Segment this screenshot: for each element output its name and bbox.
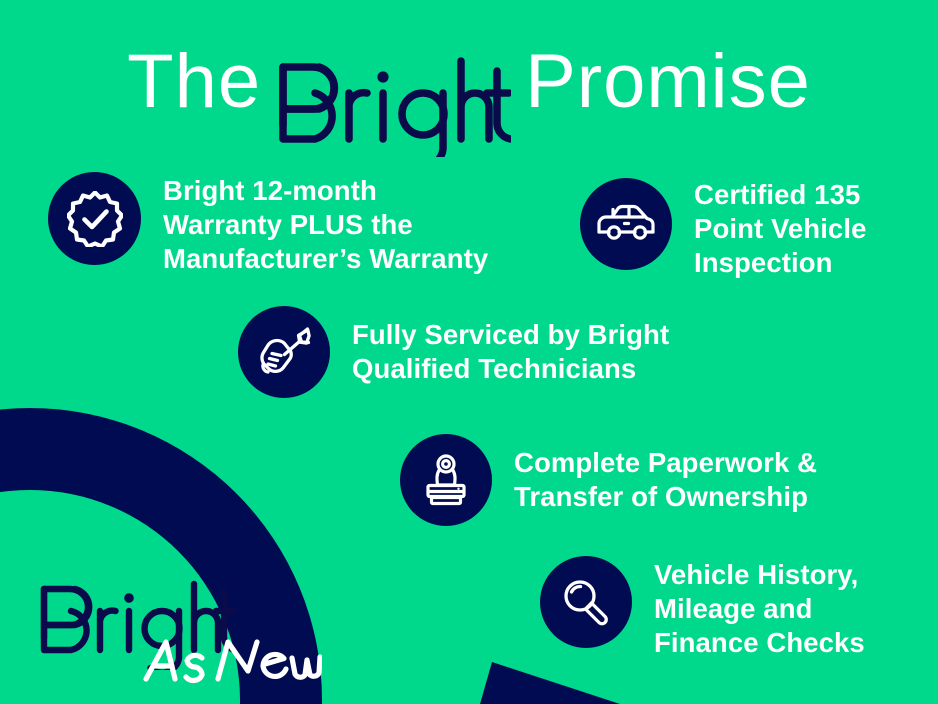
page-title: The — [0, 44, 938, 157]
headline-suffix: Promise — [525, 44, 811, 120]
promise-label-warranty: Bright 12-month Warranty PLUS the Manufa… — [163, 172, 488, 275]
promise-label-serviced: Fully Serviced by Bright Qualified Techn… — [352, 306, 669, 386]
promise-item-inspection: Certified 135 Point Vehicle Inspection — [580, 178, 866, 279]
promise-item-paperwork: Complete Paperwork & Transfer of Ownersh… — [400, 434, 817, 526]
promise-item-history: Vehicle History, Mileage and Finance Che… — [540, 556, 865, 659]
promise-item-serviced: Fully Serviced by Bright Qualified Techn… — [238, 306, 669, 398]
promise-label-inspection: Certified 135 Point Vehicle Inspection — [694, 178, 866, 279]
verified-badge-icon — [48, 172, 141, 265]
promise-label-paperwork: Complete Paperwork & Transfer of Ownersh… — [514, 434, 817, 514]
brand-logo — [38, 578, 238, 675]
hand-wrench-icon — [238, 306, 330, 398]
magnifying-glass-icon — [540, 556, 632, 648]
asnew-wordmark-icon — [142, 636, 322, 684]
headline-prefix: The — [127, 44, 261, 120]
car-icon — [580, 178, 672, 270]
promise-label-history: Vehicle History, Mileage and Finance Che… — [654, 556, 865, 659]
bright-promise-poster: The — [0, 0, 938, 704]
rubber-stamp-icon — [400, 434, 492, 526]
promise-item-warranty: Bright 12-month Warranty PLUS the Manufa… — [48, 172, 488, 275]
navy-wedge-shape — [480, 662, 620, 704]
bright-wordmark-icon — [275, 53, 511, 161]
